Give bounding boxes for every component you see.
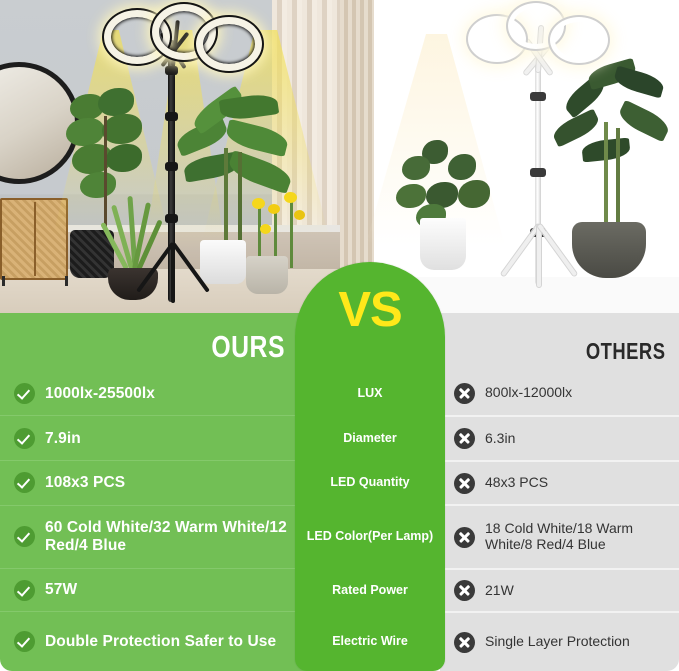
check-circle-icon <box>14 383 35 404</box>
pothos-plant <box>396 140 506 230</box>
check-circle-icon <box>14 472 35 493</box>
dark-round-pot <box>572 222 646 278</box>
feature-rows: LUX Diameter LED Quantity LED Color(Per … <box>295 371 445 671</box>
cross-circle-icon <box>454 428 475 449</box>
tripod-leg-center <box>171 243 175 303</box>
table-row: 7.9in <box>0 415 340 460</box>
led-ring-right <box>550 17 608 63</box>
table-row: 57W <box>0 568 340 612</box>
tripod-leg-center <box>537 225 541 287</box>
ours-value: 1000lx-25500lx <box>45 385 155 402</box>
table-row: 60 Cold White/32 Warm White/12 Red/4 Blu… <box>0 505 340 568</box>
table-row: 6.3in <box>440 415 679 460</box>
ours-value: 7.9in <box>45 430 81 447</box>
table-row: 108x3 PCS <box>0 460 340 505</box>
cross-circle-icon <box>454 527 475 548</box>
bird-of-paradise-plant <box>552 62 672 227</box>
check-circle-icon <box>14 428 35 449</box>
feature-label: Rated Power <box>295 568 445 612</box>
feature-label: LED Quantity <box>295 460 445 505</box>
others-value: 6.3in <box>485 431 515 447</box>
ours-header: OURS <box>0 313 340 371</box>
cabinet-legs <box>2 276 68 286</box>
feature-label: Diameter <box>295 416 445 461</box>
others-value: 800lx-12000lx <box>485 385 572 401</box>
ours-value: Double Protection Safer to Use <box>45 633 276 650</box>
others-header: OTHERS <box>440 313 679 371</box>
ours-panel: OURS 1000lx-25500lx 7.9in 108x3 PCS 60 C… <box>0 313 340 671</box>
center-feature-column: VS LUX Diameter LED Quantity LED Color(P… <box>295 262 445 671</box>
ours-rows: 1000lx-25500lx 7.9in 108x3 PCS 60 Cold W… <box>0 371 340 671</box>
cross-circle-icon <box>454 383 475 404</box>
product-photo-ours <box>0 0 340 313</box>
table-row: 21W <box>440 568 679 612</box>
check-circle-icon <box>14 526 35 547</box>
vs-badge: VS <box>295 262 445 358</box>
others-value: 48x3 PCS <box>485 475 548 491</box>
table-row: 800lx-12000lx <box>440 371 679 415</box>
ours-value: 60 Cold White/32 Warm White/12 Red/4 Blu… <box>45 519 295 554</box>
pole-knob <box>165 112 178 121</box>
room-scene <box>0 0 340 313</box>
table-row: 1000lx-25500lx <box>0 371 340 415</box>
stone-pot <box>246 256 288 294</box>
check-circle-icon <box>14 631 35 652</box>
pole-knob <box>165 162 178 171</box>
others-value: 21W <box>485 583 514 599</box>
others-value: 18 Cold White/18 Warm White/8 Red/4 Blue <box>485 521 660 552</box>
pole-knob <box>530 92 546 101</box>
table-row: Single Layer Protection <box>440 611 679 671</box>
ours-value: 57W <box>45 581 77 598</box>
table-row: 18 Cold White/18 Warm White/8 Red/4 Blue <box>440 504 679 567</box>
table-row: 48x3 PCS <box>440 460 679 505</box>
others-panel: OTHERS 800lx-12000lx 6.3in 48x3 PCS 18 C… <box>440 313 679 671</box>
cross-circle-icon <box>454 580 475 601</box>
cross-circle-icon <box>454 473 475 494</box>
pole-knob <box>165 66 178 75</box>
feature-label: LUX <box>295 371 445 416</box>
ours-value: 108x3 PCS <box>45 474 125 491</box>
pole-knob <box>165 214 178 223</box>
table-row: Double Protection Safer to Use <box>0 611 340 671</box>
feature-label: LED Color(Per Lamp) <box>295 505 445 568</box>
cross-circle-icon <box>454 632 475 653</box>
feature-label: Electric Wire <box>295 611 445 671</box>
led-ring-right <box>196 17 262 71</box>
pole-knob <box>530 168 546 177</box>
check-circle-icon <box>14 580 35 601</box>
others-value: Single Layer Protection <box>485 634 630 650</box>
ours-title: OURS <box>211 329 285 365</box>
comparison-infographic: OURS 1000lx-25500lx 7.9in 108x3 PCS 60 C… <box>0 0 679 671</box>
others-title: OTHERS <box>585 338 665 365</box>
others-rows: 800lx-12000lx 6.3in 48x3 PCS 18 Cold Whi… <box>440 371 679 671</box>
